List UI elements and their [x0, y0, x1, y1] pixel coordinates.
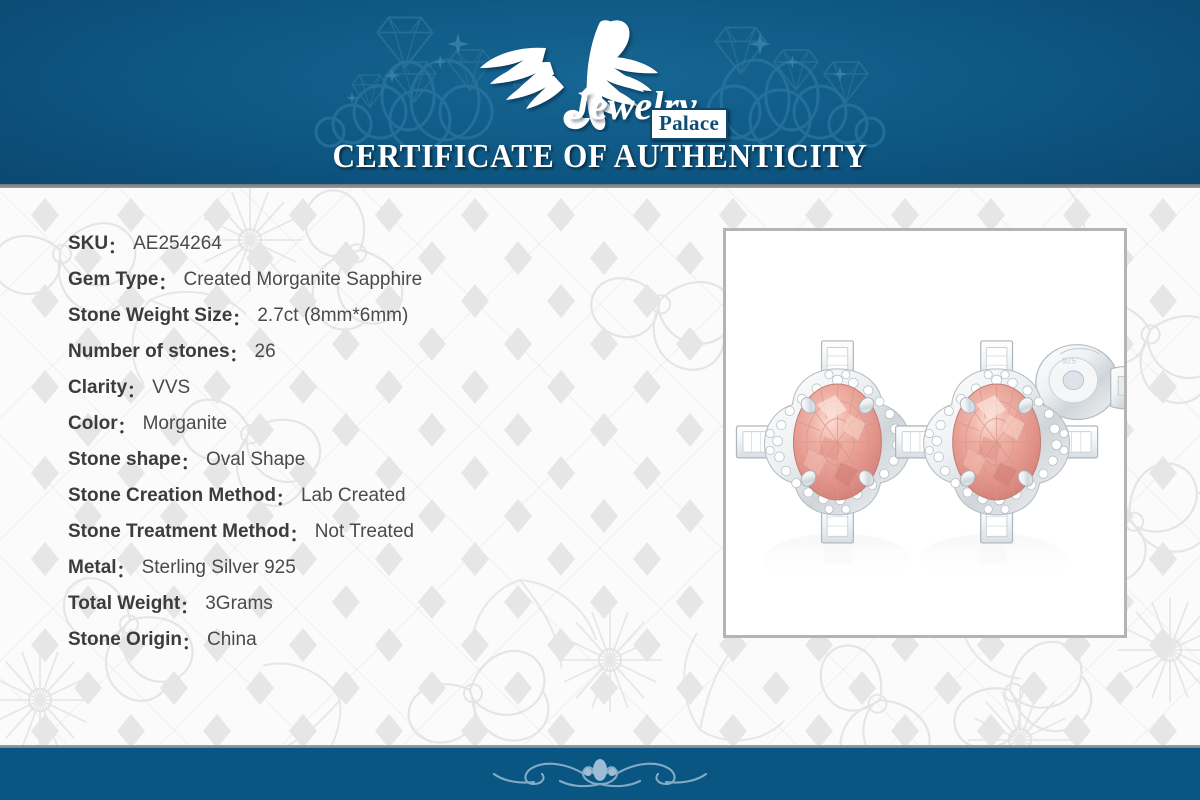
spec-row-stone-weight-size: Stone Weight Size ： 2.7ct (8mm*6mm) [68, 298, 688, 334]
spec-value: Not Treated [315, 521, 414, 543]
spec-colon: ： [108, 233, 125, 258]
spec-row-stone-shape: Stone shape ： Oval Shape [68, 442, 688, 478]
spec-value: VVS [152, 377, 190, 399]
footer-separator [0, 745, 1200, 748]
spec-label: Number of stones [68, 341, 230, 363]
spec-value: 3Grams [205, 593, 273, 615]
spec-value: Created Morganite Sapphire [183, 269, 422, 291]
spec-row-total-weight: Total Weight ： 3Grams [68, 586, 688, 622]
spec-row-metal: Metal ： Sterling Silver 925 [68, 550, 688, 586]
spec-colon: ： [181, 449, 198, 474]
spec-colon: ： [276, 485, 293, 510]
spec-colon: ： [230, 341, 247, 366]
spec-value: AE254264 [133, 233, 222, 255]
spec-label: Stone Origin [68, 629, 182, 651]
spec-colon: ： [180, 593, 197, 618]
spec-colon: ： [127, 377, 144, 402]
spec-label: Stone Weight Size [68, 305, 232, 327]
spec-colon: ： [232, 305, 249, 330]
spec-label: Total Weight [68, 593, 180, 615]
spec-colon: ： [117, 557, 134, 582]
brand-badge: Palace [650, 108, 728, 140]
metal-stamp-text: 925 [1062, 355, 1076, 365]
earrings-product-image: 925 [726, 231, 1124, 635]
brand-badge-text: Palace [659, 111, 719, 135]
spec-label: Clarity [68, 377, 127, 399]
spec-row-number-of-stones: Number of stones ： 26 [68, 334, 688, 370]
product-image-frame: 925 [723, 228, 1127, 638]
spec-row-color: Color ： Morganite [68, 406, 688, 442]
spec-row-stone-creation-method: Stone Creation Method ： Lab Created [68, 478, 688, 514]
spec-row-sku: SKU ： AE254264 [68, 226, 688, 262]
spec-value: Sterling Silver 925 [142, 557, 296, 579]
spec-value: 26 [255, 341, 276, 363]
certificate-footer [0, 748, 1200, 800]
spec-label: Stone shape [68, 449, 181, 471]
certificate-page: Jewelry Palace CERTIFICATE OF AUTHENTICI… [0, 0, 1200, 800]
spec-value: China [207, 629, 257, 651]
page-title: CERTIFICATE OF AUTHENTICITY [48, 138, 1152, 176]
spec-label: Gem Type [68, 269, 158, 291]
spec-value: Morganite [143, 413, 228, 435]
spec-colon: ： [290, 521, 307, 546]
spec-value: Oval Shape [206, 449, 305, 471]
spec-label: Metal [68, 557, 117, 579]
spec-label: SKU [68, 233, 108, 255]
brand-logo: Jewelry Palace [0, 10, 1200, 135]
spec-colon: ： [158, 269, 175, 294]
specification-list: SKU ： AE254264 Gem Type ： Created Morgan… [68, 226, 688, 658]
spec-label: Color [68, 413, 118, 435]
spec-row-stone-treatment-method: Stone Treatment Method ： Not Treated [68, 514, 688, 550]
spec-row-clarity: Clarity ： VVS [68, 370, 688, 406]
spec-colon: ： [118, 413, 135, 438]
spec-row-stone-origin: Stone Origin ： China [68, 622, 688, 658]
spec-value: Lab Created [301, 485, 406, 507]
spec-label: Stone Treatment Method [68, 521, 290, 543]
spec-row-gem-type: Gem Type ： Created Morganite Sapphire [68, 262, 688, 298]
certificate-header: Jewelry Palace CERTIFICATE OF AUTHENTICI… [0, 0, 1200, 184]
spec-label: Stone Creation Method [68, 485, 276, 507]
filigree-flourish-ornament-icon [460, 754, 740, 794]
spec-colon: ： [182, 629, 199, 654]
spec-value: 2.7ct (8mm*6mm) [257, 305, 408, 327]
header-separator [0, 184, 1200, 188]
